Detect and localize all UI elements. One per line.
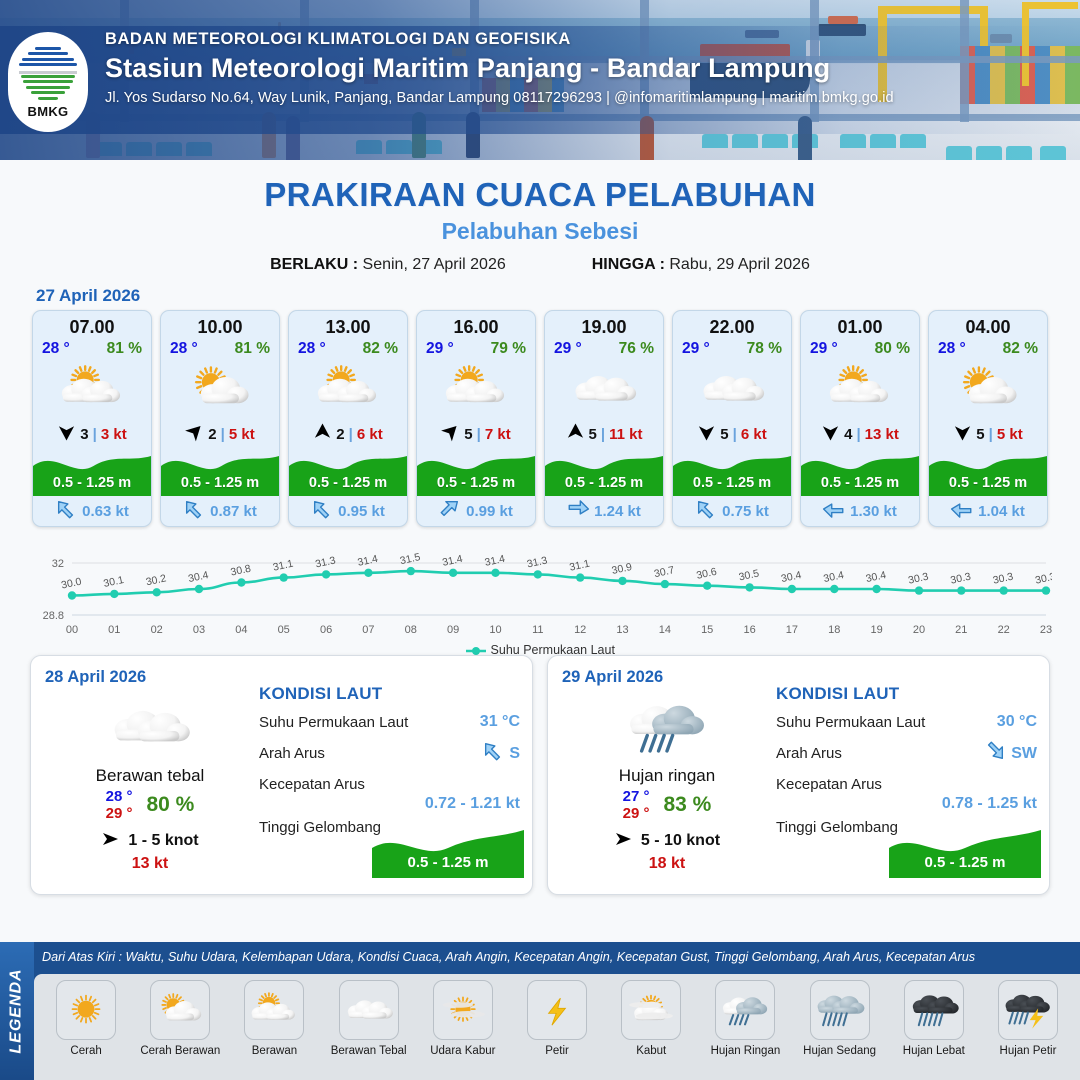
daily-summary-panel: 28 April 2026Berawan tebal28 °29 °80 %1 … [30,655,533,895]
sst-value: 30 °C [997,713,1037,731]
card-current: 0.99 kt [417,496,535,526]
svg-text:30.3: 30.3 [949,571,972,587]
page-title: PRAKIRAAN CUACA PELABUHAN [0,176,1080,214]
card-wind: 5|5 kt [929,420,1047,448]
current-speed: 0.63 kt [82,503,129,520]
svg-text:02: 02 [151,624,163,636]
sst-value: 31 °C [480,713,520,731]
card-current: 1.04 kt [929,496,1047,526]
card-temperature: 28 ° [42,340,70,358]
legend-item-label: Berawan Tebal [331,1045,407,1058]
svg-text:31.1: 31.1 [272,558,295,574]
weather-lightning-icon [527,980,587,1040]
current-direction-label: Arah Arus [259,745,325,762]
legend-item: Udara Kabur [419,980,507,1080]
card-wave-height: 0.5 - 1.25 m [545,448,663,496]
sea-condition-block: KONDISI LAUTSuhu Permukaan Laut31 °CArah… [259,684,520,836]
svg-text:09: 09 [447,624,459,636]
current-direction-row: Arah ArusSW [776,740,1037,767]
current-speed-value: 0.78 - 1.25 kt [776,795,1037,813]
svg-text:16: 16 [743,624,755,636]
panel-humidity: 80 % [146,793,194,817]
panel-wave-graphic: 0.5 - 1.25 m [372,826,524,878]
current-speed: 1.30 kt [850,503,897,520]
panel-temp-min: 28 ° [106,788,133,805]
svg-text:30.4: 30.4 [187,569,210,585]
valid-from: BERLAKU : Senin, 27 April 2026 [270,256,506,274]
card-humidity: 78 % [747,340,782,358]
wave-height-value: 0.5 - 1.25 m [33,475,151,491]
validity-row: BERLAKU : Senin, 27 April 2026 HINGGA : … [0,256,1080,274]
valid-from-value: Senin, 27 April 2026 [363,256,506,273]
svg-text:30.1: 30.1 [102,574,125,590]
card-humidity: 79 % [491,340,526,358]
weather-light-rain-icon [715,980,775,1040]
card-temperature: 28 ° [170,340,198,358]
current-speed: 0.87 kt [210,503,257,520]
panel-condition: Hujan ringan [562,766,772,786]
svg-text:30.6: 30.6 [695,566,718,582]
card-wind: 5|7 kt [417,420,535,448]
current-speed: 1.04 kt [978,503,1025,520]
current-direction-arrow-icon [567,498,589,524]
weather-partly-cloudy-icon [801,358,919,420]
current-direction-arrow-icon [183,498,205,524]
svg-text:30.7: 30.7 [653,564,676,580]
legend-tab-label: LEGENDA [8,968,26,1053]
wave-height-value: 0.5 - 1.25 m [161,475,279,491]
legend-item: Berawan [230,980,318,1080]
wind-gust: 5 kt [229,426,255,443]
svg-text:31.5: 31.5 [399,551,422,567]
svg-text:05: 05 [278,624,290,636]
legend-tab: LEGENDA [0,942,34,1080]
legend-item: Cerah [42,980,130,1080]
svg-text:30.8: 30.8 [230,563,253,579]
wind-gust: 5 kt [997,426,1023,443]
sea-condition-title: KONDISI LAUT [776,684,1037,704]
panel-wave-value: 0.5 - 1.25 m [372,854,524,871]
panel-wave-graphic: 0.5 - 1.25 m [889,826,1041,878]
current-speed-label: Kecepatan Arus [776,776,1037,793]
card-humidity: 81 % [235,340,270,358]
wave-height-value: 0.5 - 1.25 m [289,475,407,491]
current-speed-label: Kecepatan Arus [259,776,520,793]
current-direction-arrow-icon [823,498,845,524]
wind-speed: 3 [80,426,88,443]
current-direction-arrow-icon [311,498,333,524]
legend-item-label: Cerah [70,1045,101,1058]
svg-text:30.2: 30.2 [145,572,168,588]
card-wave-height: 0.5 - 1.25 m [289,448,407,496]
wind-speed: 2 [208,426,216,443]
svg-text:01: 01 [108,624,120,636]
forecast-card-list: 07.0028 °81 %3|3 kt0.5 - 1.25 m0.63 kt10… [0,310,1080,527]
panel-weather-summary: Hujan ringan27 °29 °83 %5 - 10 knot18 kt [562,696,772,873]
svg-text:13: 13 [616,624,628,636]
wind-gust: 7 kt [485,426,511,443]
valid-from-label: BERLAKU : [270,256,358,273]
current-speed: 0.99 kt [466,503,513,520]
panel-temp-max: 29 ° [623,805,650,822]
weather-cloudy-thick-icon [45,696,255,758]
card-temperature: 28 ° [298,340,326,358]
card-time: 10.00 [161,311,279,338]
svg-text:10: 10 [489,624,501,636]
card-humidity: 81 % [107,340,142,358]
card-time: 04.00 [929,311,1047,338]
wind-speed: 5 [589,426,597,443]
wind-direction-arrow-icon [821,422,840,446]
svg-text:06: 06 [320,624,332,636]
panel-wave-value: 0.5 - 1.25 m [889,854,1041,871]
legend-item: Kabut [607,980,695,1080]
legend-item-label: Cerah Berawan [140,1045,220,1058]
svg-text:30.0: 30.0 [60,576,83,592]
svg-text:31.3: 31.3 [314,554,337,570]
legend-item-label: Hujan Petir [1000,1045,1057,1058]
bmkg-logo: BMKG [8,32,88,132]
svg-text:04: 04 [235,624,247,636]
legend-item: Hujan Lebat [890,980,978,1080]
svg-text:32: 32 [52,558,64,570]
current-speed: 0.75 kt [722,503,769,520]
card-wave-height: 0.5 - 1.25 m [929,448,1047,496]
daily-summary-panel: 29 April 2026Hujan ringan27 °29 °83 %5 -… [547,655,1050,895]
svg-text:31.4: 31.4 [441,553,464,569]
svg-text:30.4: 30.4 [822,569,845,585]
current-speed: 0.95 kt [338,503,385,520]
current-direction-arrow-icon [439,498,461,524]
legend-item: Hujan Petir [984,980,1072,1080]
page-header: BMKG BADAN METEOROLOGI KLIMATOLOGI DAN G… [0,0,1080,160]
forecast-card[interactable]: 22.0029 °78 %5|6 kt0.5 - 1.25 m0.75 kt [672,310,792,527]
sst-row: Suhu Permukaan Laut30 °C [776,713,1037,731]
current-direction-arrow-icon [482,740,504,767]
sst-label: Suhu Permukaan Laut [776,714,925,731]
card-time: 07.00 [33,311,151,338]
card-wave-height: 0.5 - 1.25 m [673,448,791,496]
svg-text:30.4: 30.4 [865,569,888,585]
current-speed-row: Kecepatan Arus0.72 - 1.21 kt [259,776,520,813]
sea-condition-title: KONDISI LAUT [259,684,520,704]
svg-text:14: 14 [659,624,671,636]
legend-item: Hujan Ringan [701,980,789,1080]
current-direction-value: SW [1011,745,1037,763]
wind-direction-arrow-icon [57,422,76,446]
card-wind: 5|6 kt [673,420,791,448]
legend-item-label: Udara Kabur [430,1045,495,1058]
legend-section: LEGENDA Dari Atas Kiri : Waktu, Suhu Uda… [0,942,1080,1080]
wind-direction-arrow-icon [185,422,204,446]
card-wind: 4|13 kt [801,420,919,448]
svg-text:08: 08 [405,624,417,636]
card-current: 1.24 kt [545,496,663,526]
svg-text:31.4: 31.4 [357,553,380,569]
legend-items: CerahCerah BerawanBerawanBerawan TebalUd… [34,974,1080,1080]
current-speed-row: Kecepatan Arus0.78 - 1.25 kt [776,776,1037,813]
bmkg-logo-text: BMKG [28,104,69,119]
sst-chart: 3228.830.00030.10130.20230.40330.80431.1… [28,537,1052,647]
forecast-card[interactable]: 04.0028 °82 %5|5 kt0.5 - 1.25 m1.04 kt [928,310,1048,527]
valid-until-label: HINGGA : [592,256,665,273]
svg-text:17: 17 [786,624,798,636]
card-wind: 5|11 kt [545,420,663,448]
card-wind: 2|5 kt [161,420,279,448]
forecast-card[interactable]: 13.0028 °82 %2|6 kt0.5 - 1.25 m0.95 kt [288,310,408,527]
weather-sun-icon [56,980,116,1040]
panel-wind: 5 - 10 knot [562,831,772,852]
panel-gust: 13 kt [45,855,255,873]
wind-direction-arrow-icon [697,422,716,446]
svg-text:20: 20 [913,624,925,636]
panel-wind-range: 5 - 10 knot [641,832,720,850]
card-temperature: 29 ° [682,340,710,358]
card-current: 0.63 kt [33,496,151,526]
svg-text:30.5: 30.5 [738,567,761,583]
current-direction-arrow-icon [984,740,1006,767]
agency-name: BADAN METEOROLOGI KLIMATOLOGI DAN GEOFIS… [105,30,894,49]
current-direction-arrow-icon [951,498,973,524]
card-humidity: 76 % [619,340,654,358]
svg-text:07: 07 [362,624,374,636]
wind-direction-arrow-icon [614,831,634,852]
weather-partly-cloudy-icon [33,358,151,420]
legend-item-label: Kabut [636,1045,666,1058]
valid-until-value: Rabu, 29 April 2026 [669,256,810,273]
weather-moderate-rain-icon [810,980,870,1040]
weather-cloudy-icon [545,358,663,420]
weather-haze-icon [433,980,493,1040]
bmkg-logo-mark [19,45,77,103]
card-wave-height: 0.5 - 1.25 m [801,448,919,496]
card-time: 22.00 [673,311,791,338]
svg-text:12: 12 [574,624,586,636]
weather-sun-cloud-icon [161,358,279,420]
card-wave-height: 0.5 - 1.25 m [33,448,151,496]
contact-line: Jl. Yos Sudarso No.64, Way Lunik, Panjan… [105,90,894,106]
card-current: 0.95 kt [289,496,407,526]
forecast-card[interactable]: 19.0029 °76 %5|11 kt0.5 - 1.25 m1.24 kt [544,310,664,527]
wind-gust: 11 kt [609,426,642,443]
legend-item: Cerah Berawan [136,980,224,1080]
weather-thunderstorm-icon [998,980,1058,1040]
current-direction-value: S [509,745,520,763]
legend-item-label: Hujan Lebat [903,1045,965,1058]
svg-text:00: 00 [66,624,78,636]
card-temperature: 29 ° [554,340,582,358]
wave-height-value: 0.5 - 1.25 m [545,475,663,491]
weather-heavy-rain-icon [904,980,964,1040]
card-humidity: 82 % [1003,340,1038,358]
wind-gust: 6 kt [741,426,767,443]
weather-cloudy-icon [673,358,791,420]
wind-direction-arrow-icon [441,422,460,446]
wind-speed: 5 [976,426,984,443]
forecast-card[interactable]: 07.0028 °81 %3|3 kt0.5 - 1.25 m0.63 kt [32,310,152,527]
wind-gust: 6 kt [357,426,383,443]
weather-cloudy-icon [339,980,399,1040]
panel-wind-range: 1 - 5 knot [128,832,198,850]
daily-summary-panels: 28 April 2026Berawan tebal28 °29 °80 %1 … [0,647,1080,895]
svg-text:19: 19 [870,624,882,636]
current-direction-arrow-icon [695,498,717,524]
panel-weather-summary: Berawan tebal28 °29 °80 %1 - 5 knot13 kt [45,696,255,873]
svg-text:31.3: 31.3 [526,554,549,570]
panel-temp-max: 29 ° [106,805,133,822]
forecast-date-label: 27 April 2026 [36,286,1080,306]
card-current: 1.30 kt [801,496,919,526]
header-titles: BADAN METEOROLOGI KLIMATOLOGI DAN GEOFIS… [105,30,894,106]
svg-text:28.8: 28.8 [43,610,64,622]
sst-row: Suhu Permukaan Laut31 °C [259,713,520,731]
card-wind: 2|6 kt [289,420,407,448]
sst-label: Suhu Permukaan Laut [259,714,408,731]
card-time: 01.00 [801,311,919,338]
legend-item-label: Berawan [252,1045,297,1058]
svg-text:15: 15 [701,624,713,636]
wind-gust: 3 kt [101,426,127,443]
card-temperature: 29 ° [426,340,454,358]
card-wave-height: 0.5 - 1.25 m [161,448,279,496]
card-temperature: 28 ° [938,340,966,358]
card-wave-height: 0.5 - 1.25 m [417,448,535,496]
wave-height-value: 0.5 - 1.25 m [801,475,919,491]
current-speed-value: 0.72 - 1.21 kt [259,795,520,813]
valid-until: HINGGA : Rabu, 29 April 2026 [592,256,810,274]
svg-text:03: 03 [193,624,205,636]
svg-text:21: 21 [955,624,967,636]
card-time: 19.00 [545,311,663,338]
wind-direction-arrow-icon [566,422,585,446]
weather-fog-icon [621,980,681,1040]
wave-height-value: 0.5 - 1.25 m [673,475,791,491]
panel-gust: 18 kt [562,855,772,873]
weather-partly-cloudy-icon [244,980,304,1040]
svg-text:30.3: 30.3 [1034,571,1052,587]
wind-speed: 5 [720,426,728,443]
svg-text:11: 11 [532,624,543,636]
svg-text:30.3: 30.3 [992,571,1015,587]
current-direction-label: Arah Arus [776,745,842,762]
wave-height-value: 0.5 - 1.25 m [929,475,1047,491]
card-time: 16.00 [417,311,535,338]
legend-item-label: Petir [545,1045,569,1058]
wind-speed: 4 [844,426,852,443]
current-speed: 1.24 kt [594,503,641,520]
svg-text:31.4: 31.4 [484,553,507,569]
card-temperature: 29 ° [810,340,838,358]
wind-direction-arrow-icon [101,831,121,852]
wind-speed: 2 [336,426,344,443]
card-current: 0.87 kt [161,496,279,526]
weather-light-rain-icon [562,696,772,758]
svg-text:18: 18 [828,624,840,636]
wind-speed: 5 [464,426,472,443]
card-wind: 3|3 kt [33,420,151,448]
weather-sun-cloud-icon [150,980,210,1040]
card-humidity: 82 % [363,340,398,358]
wind-direction-arrow-icon [313,422,332,446]
svg-text:30.3: 30.3 [907,571,930,587]
panel-temp-min: 27 ° [623,788,650,805]
current-direction-arrow-icon [55,498,77,524]
station-name: Stasiun Meteorologi Maritim Panjang - Ba… [105,53,894,84]
wind-gust: 13 kt [865,426,899,443]
panel-condition: Berawan tebal [45,766,255,786]
svg-text:30.4: 30.4 [780,569,803,585]
legend-item: Berawan Tebal [325,980,413,1080]
wind-direction-arrow-icon [953,422,972,446]
card-time: 13.00 [289,311,407,338]
title-block: PRAKIRAAN CUACA PELABUHAN Pelabuhan Sebe… [0,176,1080,274]
svg-text:23: 23 [1040,624,1052,636]
forecast-card[interactable]: 10.0028 °81 %2|5 kt0.5 - 1.25 m0.87 kt [160,310,280,527]
card-humidity: 80 % [875,340,910,358]
legend-note: Dari Atas Kiri : Waktu, Suhu Udara, Kele… [42,950,1072,964]
legend-item: Petir [513,980,601,1080]
legend-item-label: Hujan Sedang [803,1045,876,1058]
weather-sun-cloud-icon [929,358,1047,420]
legend-item-label: Hujan Ringan [711,1045,781,1058]
weather-partly-cloudy-icon [289,358,407,420]
legend-item: Hujan Sedang [796,980,884,1080]
forecast-card[interactable]: 01.0029 °80 %4|13 kt0.5 - 1.25 m1.30 kt [800,310,920,527]
panel-wind: 1 - 5 knot [45,831,255,852]
current-direction-row: Arah ArusS [259,740,520,767]
wave-height-value: 0.5 - 1.25 m [417,475,535,491]
forecast-card[interactable]: 16.0029 °79 %5|7 kt0.5 - 1.25 m0.99 kt [416,310,536,527]
panel-humidity: 83 % [663,793,711,817]
card-current: 0.75 kt [673,496,791,526]
svg-text:31.1: 31.1 [568,558,591,574]
weather-partly-cloudy-icon [417,358,535,420]
svg-text:22: 22 [998,624,1010,636]
sea-condition-block: KONDISI LAUTSuhu Permukaan Laut30 °CArah… [776,684,1037,836]
port-name: Pelabuhan Sebesi [0,218,1080,245]
